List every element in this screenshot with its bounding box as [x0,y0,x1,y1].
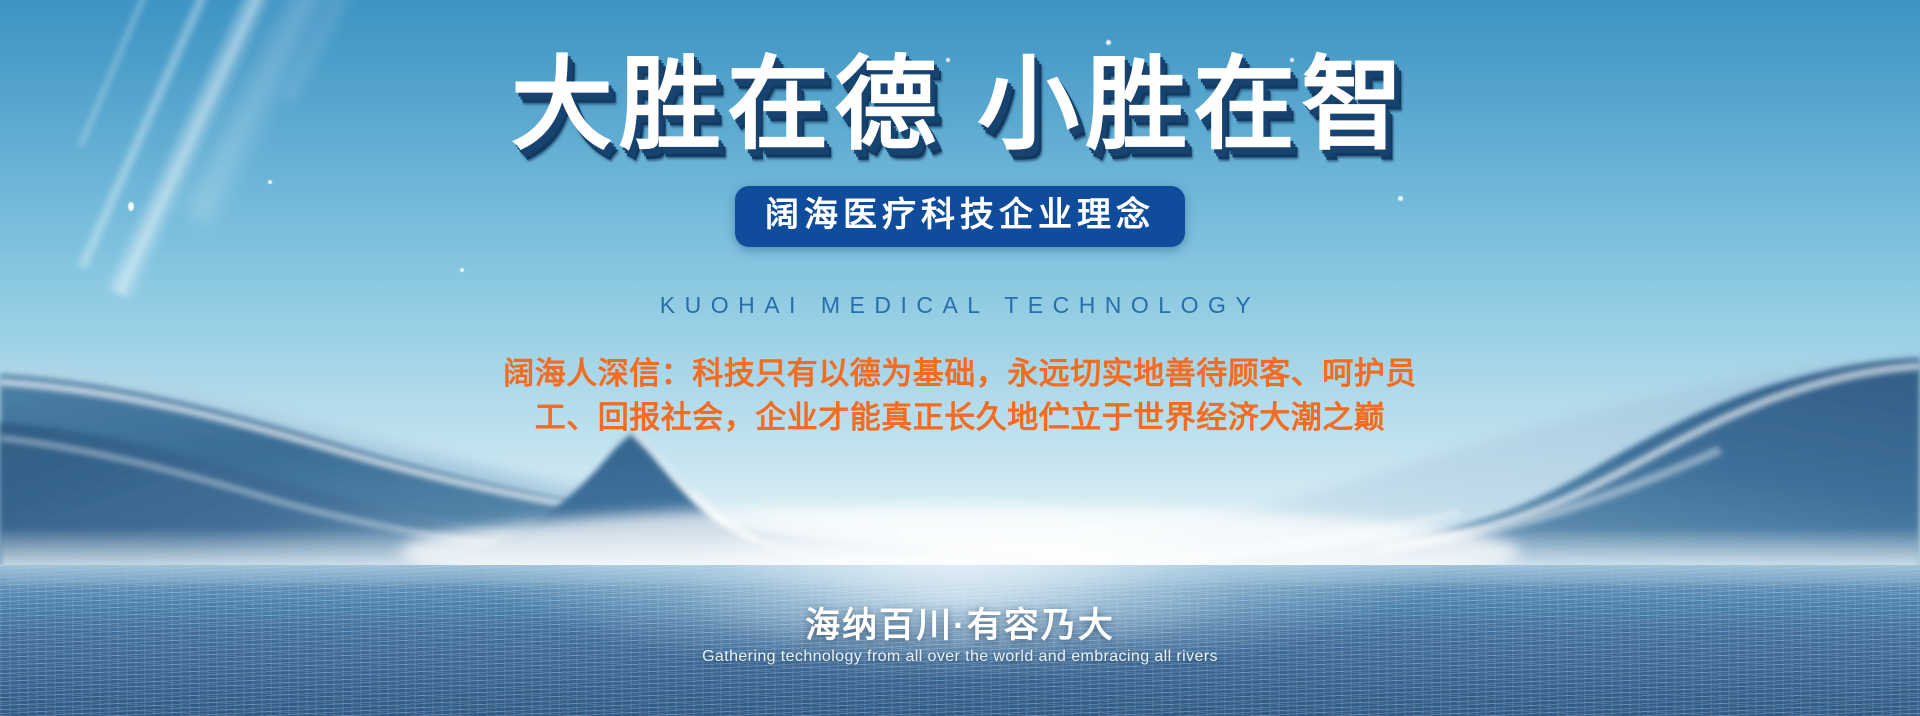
concept-badge: 阔海医疗科技企业理念 [735,186,1185,247]
company-name-english: KUOHAI MEDICAL TECHNOLOGY [0,292,1920,319]
brand-banner: 大胜在德 小胜在智 阔海医疗科技企业理念 KUOHAI MEDICAL TECH… [0,0,1920,716]
philosophy-statement-line2: 工、回报社会，企业才能真正长久地伫立于世界经济大潮之巅 [0,396,1920,440]
philosophy-statement: 阔海人深信：科技只有以德为基础，永远切实地善待顾客、呵护员 工、回报社会，企业才… [0,352,1920,440]
motto-english: Gathering technology from all over the w… [0,648,1920,666]
page-title: 大胜在德 小胜在智 [0,48,1920,162]
banner-content: 大胜在德 小胜在智 阔海医疗科技企业理念 KUOHAI MEDICAL TECH… [0,0,1920,716]
philosophy-statement-line1: 阔海人深信：科技只有以德为基础，永远切实地善待顾客、呵护员 [0,352,1920,396]
motto-chinese: 海纳百川·有容乃大 [0,597,1920,648]
concept-badge-label: 阔海医疗科技企业理念 [765,195,1155,236]
